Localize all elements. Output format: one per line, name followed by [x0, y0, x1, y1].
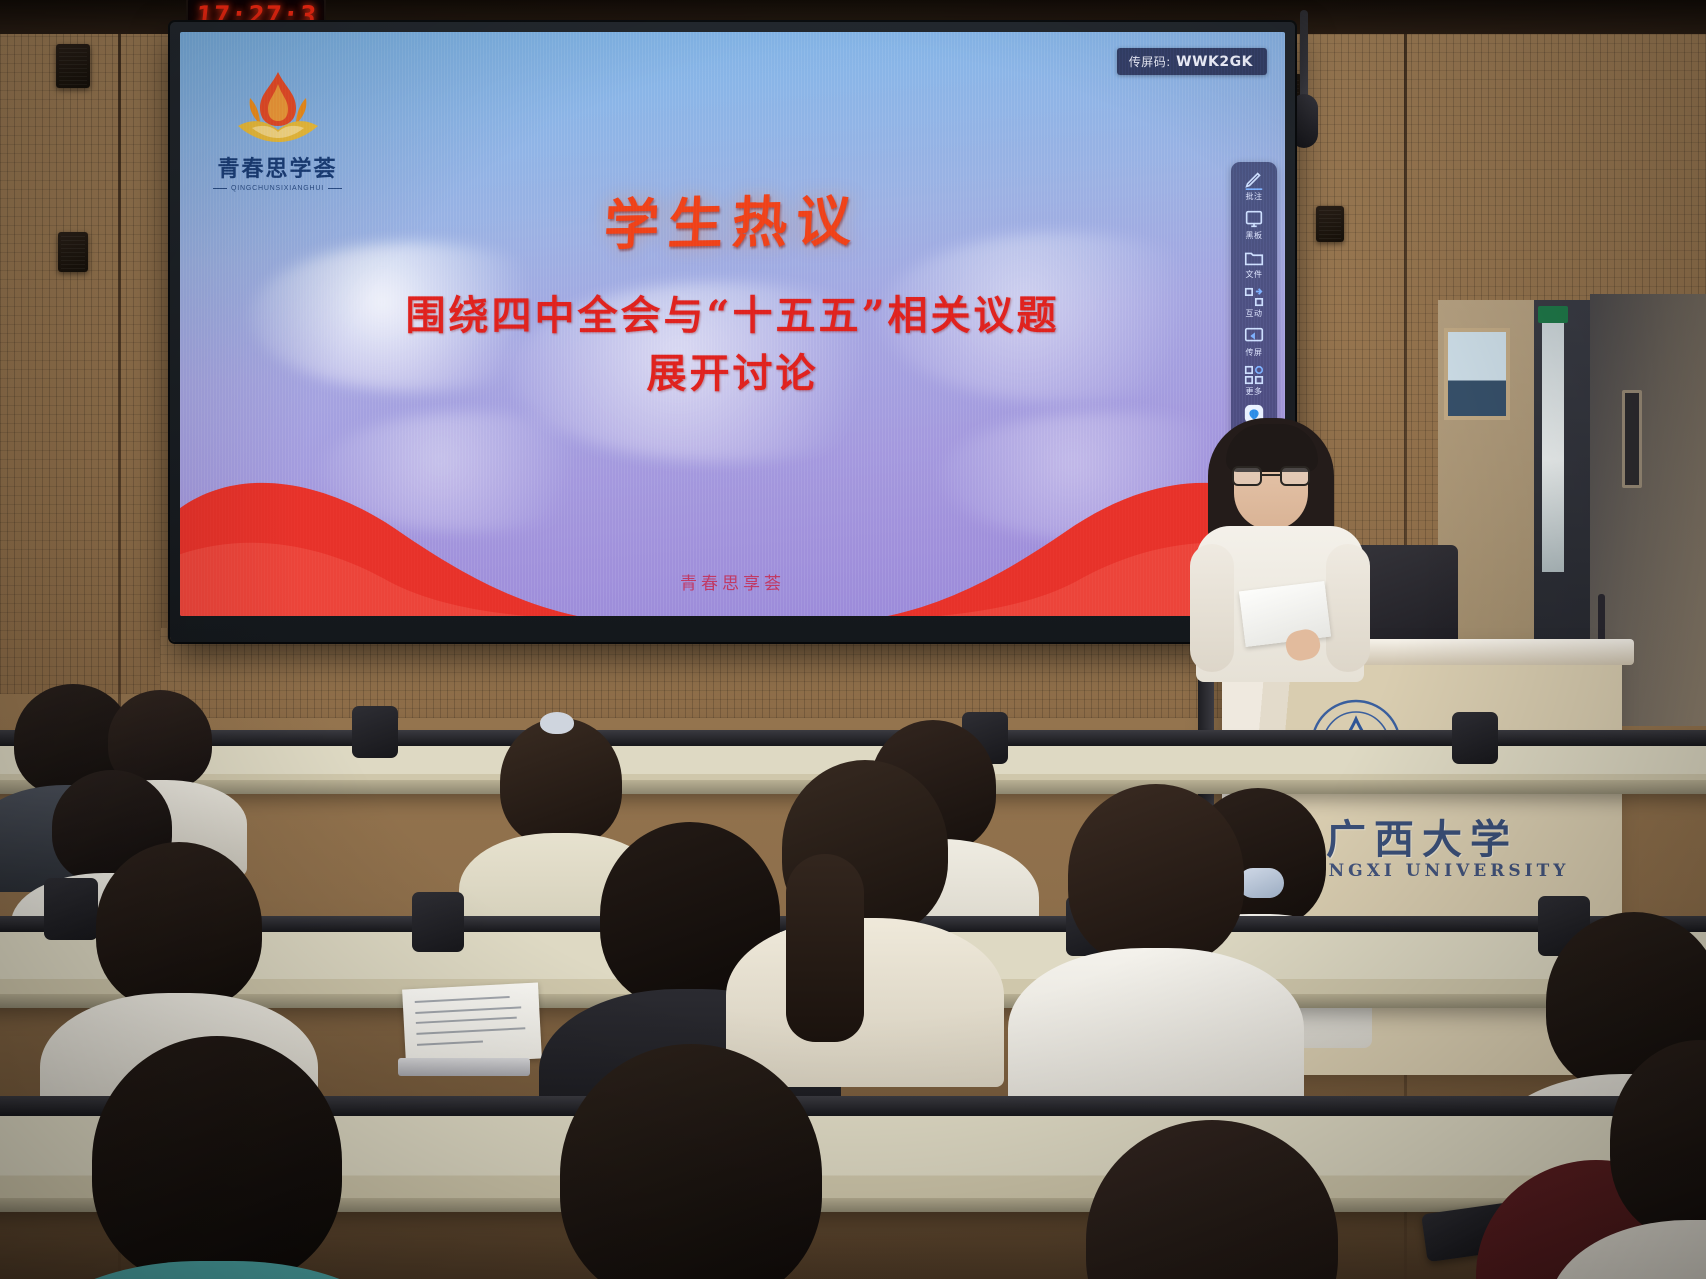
more-grid-icon — [1243, 364, 1265, 386]
flame-book-logo-icon — [230, 68, 326, 154]
wall-speaker-left — [56, 44, 90, 88]
desk-paper-notes — [402, 982, 542, 1065]
slide-subtitle-line1: 围绕四中全会与“十五五”相关议题 — [180, 287, 1285, 345]
toolbar-item-more[interactable]: 更多 — [1234, 364, 1274, 396]
exit-sign-icon — [1538, 306, 1568, 323]
cast-code-label: 传屏码: — [1129, 55, 1171, 69]
toolbar-item-files[interactable]: 文件 — [1234, 247, 1274, 279]
smart-board[interactable]: 青春思学荟 QINGCHUNSIXIANGHUI 传屏码: WWK2GK 学生热… — [170, 22, 1295, 642]
slide-logo: 青春思学荟 QINGCHUNSIXIANGHUI — [210, 68, 345, 192]
desk-laptop — [398, 1058, 530, 1076]
desk-rail-far — [0, 730, 1706, 746]
seat-back-mid-2 — [412, 892, 464, 952]
slide-logo-name: 青春思学荟 — [210, 159, 345, 181]
slide-subtitle: 围绕四中全会与“十五五”相关议题 展开讨论 — [180, 287, 1285, 403]
pen-icon — [1243, 169, 1265, 191]
toolbar-item-annotate[interactable]: 批注 — [1234, 169, 1274, 201]
lecture-hall-photo: 17:27:3 — [0, 0, 1706, 1279]
toolbar-label-files: 文件 — [1246, 271, 1263, 279]
board-screen[interactable]: 青春思学荟 QINGCHUNSIXIANGHUI 传屏码: WWK2GK 学生热… — [180, 32, 1285, 616]
speaker-arm-left — [1190, 544, 1234, 672]
folder-icon — [1243, 247, 1265, 269]
glasses-icon — [1232, 466, 1310, 486]
wall-poster — [1444, 328, 1510, 420]
blackboard-icon — [1243, 208, 1265, 230]
audience-head-mid-1 — [96, 842, 262, 1010]
wall-speaker-right-2 — [1316, 206, 1344, 242]
audience-head-mid-4 — [1068, 784, 1244, 966]
audience-head-near-3 — [1086, 1120, 1338, 1279]
seat-back-mid-1 — [44, 878, 98, 940]
toolbar-item-cast[interactable]: 传屏 — [1234, 325, 1274, 357]
audience-head-near-2 — [560, 1044, 822, 1279]
speaker-arm-right — [1326, 544, 1370, 672]
toolbar-label-blackboard: 黑板 — [1246, 232, 1263, 240]
slide-footer: 青春思享荟 — [180, 569, 1285, 594]
speaker-hair-front — [1226, 424, 1318, 472]
microphone-boom — [1300, 10, 1308, 106]
toolbar-label-annotate: 批注 — [1246, 193, 1263, 201]
audience-long-hair-mid-3 — [786, 854, 864, 1042]
toolbar-item-blackboard[interactable]: 黑板 — [1234, 208, 1274, 240]
toolbar-label-interaction: 互动 — [1246, 310, 1263, 318]
interaction-icon — [1243, 286, 1265, 308]
audience-hairtie-far-4 — [540, 712, 574, 734]
cast-code-badge: 传屏码: WWK2GK — [1117, 48, 1267, 75]
speaking-student — [1190, 418, 1370, 678]
toolbar-item-interaction[interactable]: 互动 — [1234, 286, 1274, 318]
audience-head-near-5 — [1610, 1040, 1706, 1240]
seat-back-far-3 — [1452, 712, 1498, 764]
door-vision-panel — [1622, 390, 1642, 488]
toolbar-label-more: 更多 — [1246, 388, 1263, 396]
cast-screen-icon — [1243, 325, 1265, 347]
toolbar-label-cast: 传屏 — [1246, 349, 1263, 357]
hair-scrunchie — [1238, 868, 1284, 898]
cast-code-value: WWK2GK — [1176, 54, 1253, 70]
corridor-daylight — [1542, 322, 1564, 572]
seat-back-far-1 — [352, 706, 398, 758]
slide-subtitle-line2: 展开讨论 — [180, 345, 1285, 403]
audience-head-near-1 — [92, 1036, 342, 1279]
wood-panel-left — [0, 34, 172, 694]
wall-speaker-left-2 — [58, 232, 88, 272]
